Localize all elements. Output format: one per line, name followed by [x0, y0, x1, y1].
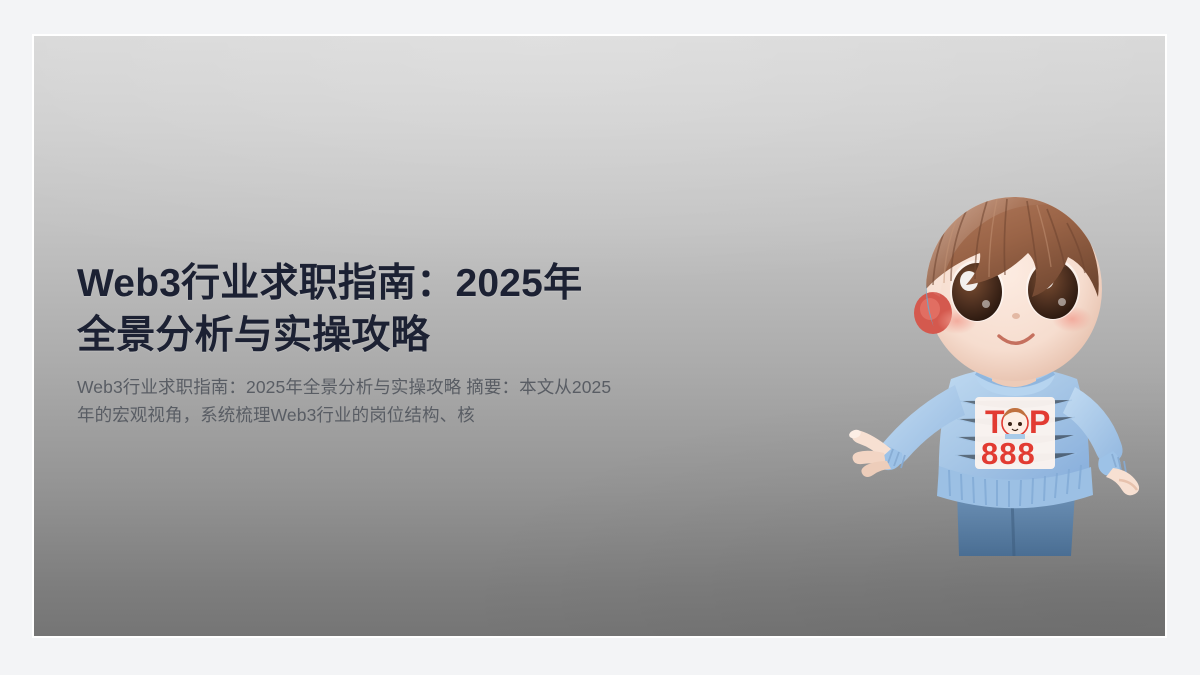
- slide-subtitle: Web3行业求职指南：2025年全景分析与实操攻略 摘要：本文从2025 年的宏…: [77, 373, 787, 430]
- chibi-boy-icon: T P 888: [829, 161, 1165, 556]
- nose: [1012, 313, 1020, 319]
- page-title: Web3行业求职指南：2025年 全景分析与实操攻略: [77, 258, 787, 362]
- pointing-hand: [848, 428, 891, 477]
- sweater-text-p: P: [1029, 404, 1050, 440]
- slide-text-block: Web3行业求职指南：2025年 全景分析与实操攻略 Web3行业求职指南：20…: [77, 258, 787, 429]
- right-hand: [1106, 468, 1139, 495]
- character-head: [914, 193, 1102, 381]
- character-illustration: T P 888: [829, 161, 1165, 556]
- slide-canvas: Web3行业求职指南：2025年 全景分析与实操攻略 Web3行业求职指南：20…: [34, 36, 1165, 636]
- sweater-face-badge: [1002, 408, 1028, 439]
- sweater-graphic: T P 888: [975, 397, 1055, 471]
- sweater-text-888: 888: [981, 436, 1036, 471]
- slide-frame: Web3行业求职指南：2025年 全景分析与实操攻略 Web3行业求职指南：20…: [32, 34, 1167, 638]
